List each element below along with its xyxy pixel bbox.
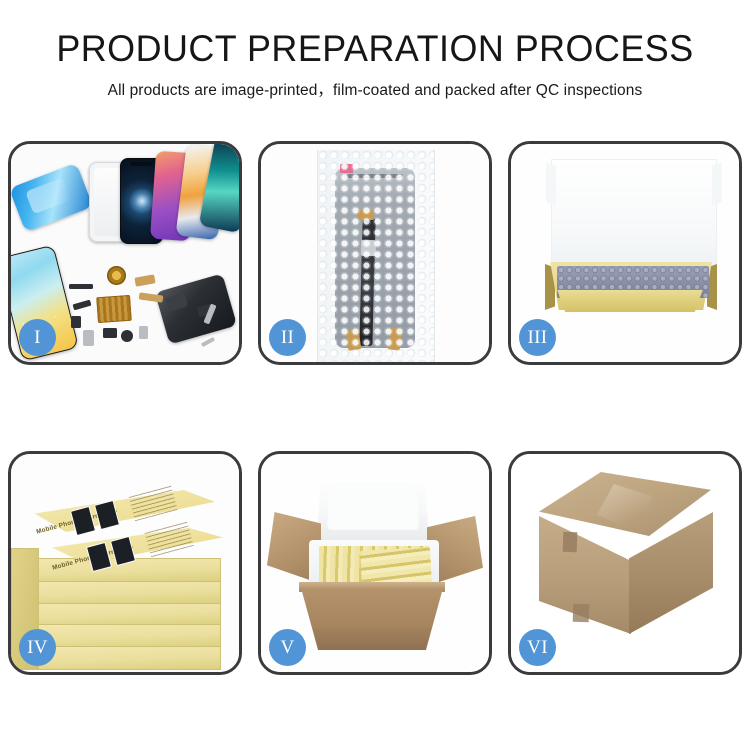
header: PRODUCT PREPARATION PROCESS All products… [0,0,750,101]
step-6-sealed-carton[interactable]: VI [508,451,742,675]
step-badge-2: II [269,319,306,356]
carton-tape-mark [573,604,590,623]
box-spec-lines [144,521,193,558]
copper-coil-part [107,266,126,285]
small-part [83,330,94,346]
step-3-inner-box[interactable]: III [508,141,742,365]
gold-connector [357,210,374,220]
step-badge-5: V [269,629,306,666]
process-step-grid: I II [8,141,742,675]
carton-front [301,588,443,650]
box-spec-lines [128,485,177,522]
small-part [71,316,81,328]
step-5-foam-carton[interactable]: V [258,451,492,675]
step-2-bubble-wrap[interactable]: II [258,141,492,365]
step-badge-3: III [519,319,556,356]
box-lid [551,159,717,271]
small-part [139,326,148,339]
small-part [121,330,133,342]
stacked-box [17,602,221,626]
carton-tape-mark [563,532,578,552]
step-badge-1: I [19,319,56,356]
step-badge-6: VI [519,629,556,666]
page-title: PRODUCT PREPARATION PROCESS [11,28,739,70]
stacked-box [17,580,221,604]
cream-box-front [551,290,709,312]
small-part [69,284,93,289]
step-1-components[interactable]: I [8,141,242,365]
lcd-screen [335,168,415,348]
chip-part [96,295,132,323]
pink-qc-label [340,164,353,173]
step-4-stacked-boxes[interactable]: Mobile Phone Spare Parts Mobile Phone Sp… [8,451,242,675]
styrofoam-lid [317,474,429,546]
product-preparation-page: PRODUCT PREPARATION PROCESS All products… [0,0,750,750]
small-part [103,328,117,338]
step-badge-4: IV [19,629,56,666]
gold-connector [346,329,362,351]
page-subtitle: All products are image-printed，film-coat… [0,81,750,101]
